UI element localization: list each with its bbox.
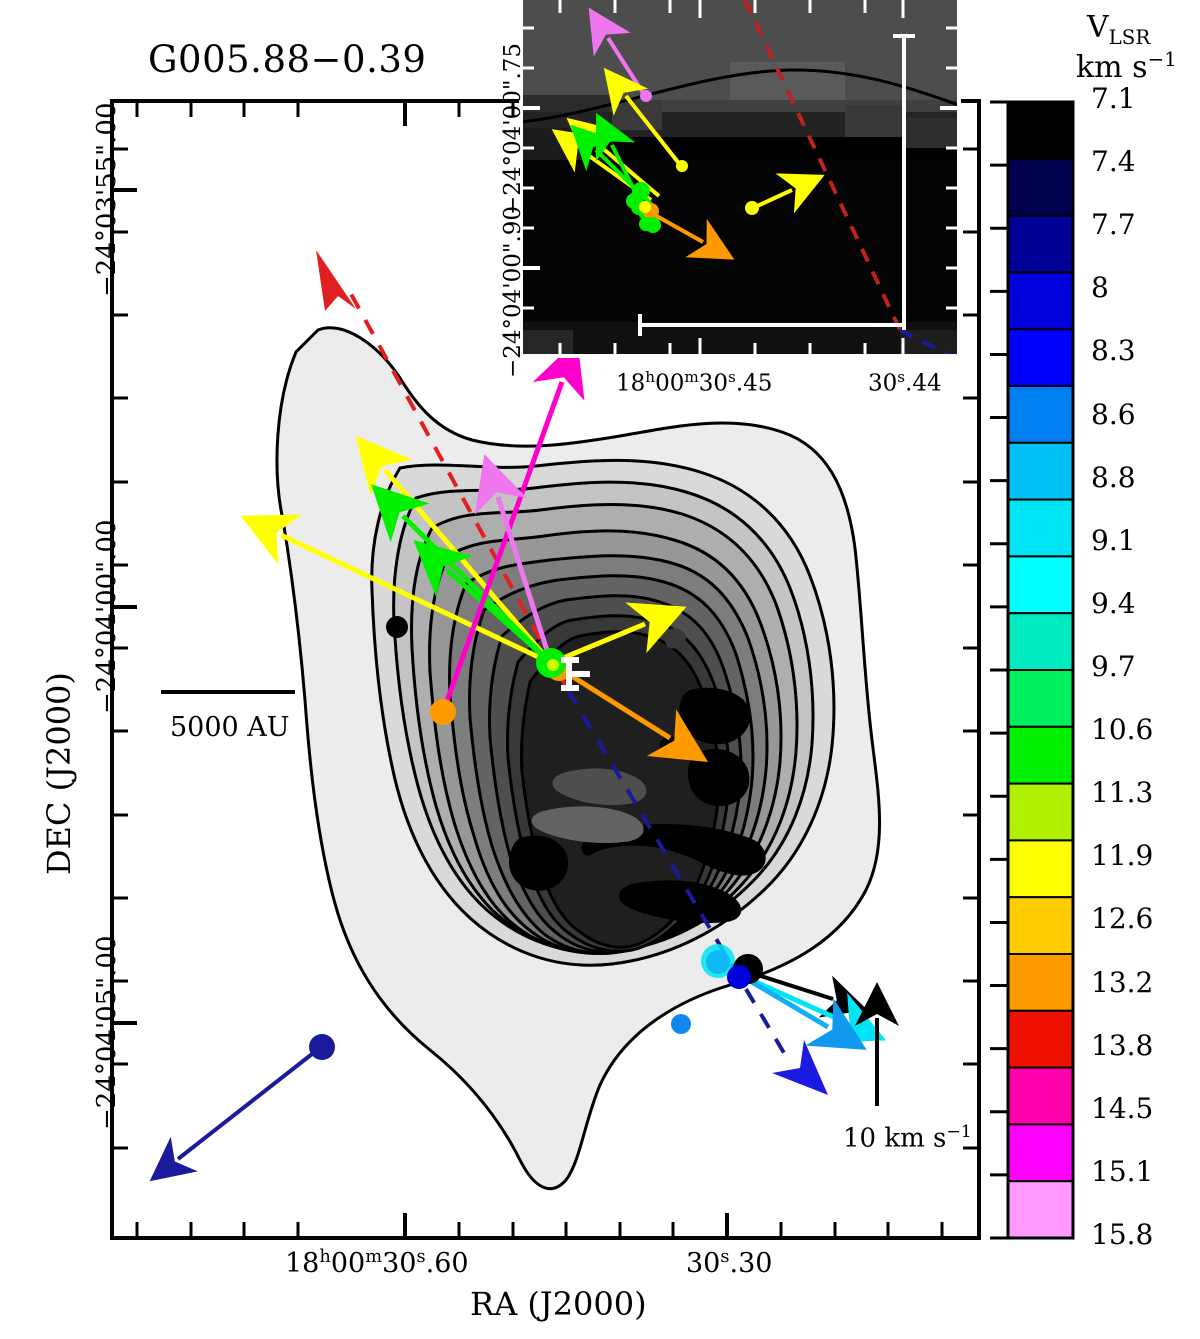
colorbar-band-0 (1008, 102, 1073, 159)
colorbar-band-4 (1008, 329, 1073, 386)
colorbar-title-units: km s−1 (1076, 48, 1177, 85)
colorbar-band-14 (1008, 897, 1073, 954)
colorbar-tick-label-16: 14.5 (1091, 1092, 1153, 1125)
colorbar-tick-label-10: 10.6 (1091, 713, 1153, 746)
colorbar-tick-label-3: 8 (1091, 271, 1109, 304)
colorbar-band-7 (1008, 500, 1073, 557)
colorbar-band-5 (1008, 386, 1073, 443)
maser-dot-cyan-bright (706, 950, 730, 974)
inset-x-tick-1: 30s.44 (868, 368, 942, 397)
colorbar-tick-label-15: 13.8 (1091, 1029, 1153, 1062)
inset-x-tick-0: 18h00m30s.45 (616, 368, 772, 397)
inset-y-tick-0: −24°04'00".75 (500, 43, 526, 215)
colorbar-band-10 (1008, 670, 1073, 727)
colorbar-tick-label-17: 15.1 (1091, 1155, 1153, 1188)
y-tick-label-0: −24°03'55".00 (92, 103, 122, 298)
colorbar-tick-label-8: 9.4 (1091, 587, 1136, 620)
colorbar-band-13 (1008, 840, 1073, 897)
colorbar-tick-label-9: 9.7 (1091, 650, 1136, 683)
colorbar-band-16 (1008, 1011, 1073, 1068)
ra-axis-label: RA (J2000) (470, 1285, 647, 1323)
colorbar-tick-label-7: 9.1 (1091, 524, 1136, 557)
colorbar-tick-label-2: 7.7 (1091, 208, 1136, 241)
colorbar-tick-label-13: 12.6 (1091, 902, 1153, 935)
colorbar-tick-label-11: 11.3 (1091, 776, 1153, 809)
y-tick-label-2: −24°04'05".00 (92, 936, 122, 1131)
page-title: G005.88−0.39 (148, 38, 426, 81)
velocity-scale-label: 10 km s−1 (843, 1122, 972, 1154)
colorbar-tick-label-18: 15.8 (1091, 1218, 1153, 1251)
y-tick-label-1: −24°04'00".00 (92, 520, 122, 715)
dec-axis-label-wrap: DEC (J2000) (40, 672, 78, 875)
colorbar-band-19 (1008, 1181, 1073, 1238)
colorbar-band-15 (1008, 954, 1073, 1011)
maser-dot-orange-knot (430, 699, 456, 725)
colorbar-band-12 (1008, 784, 1073, 841)
colorbar-tick-label-6: 8.8 (1091, 461, 1136, 494)
maser-dot-navy (309, 1034, 335, 1060)
dec-axis-label: DEC (J2000) (40, 672, 78, 875)
colorbar-band-18 (1008, 1124, 1073, 1181)
colorbar (1008, 102, 1073, 1238)
maser-dot-blue-south (727, 965, 751, 989)
colorbar-tick-label-12: 11.9 (1091, 839, 1153, 872)
colorbar-tick-label-0: 7.1 (1091, 82, 1136, 115)
maser-dot-central-yellow-core (547, 659, 559, 671)
colorbar-tick-label-5: 8.6 (1091, 398, 1136, 431)
colorbar-band-8 (1008, 556, 1073, 613)
colorbar-band-6 (1008, 443, 1073, 500)
colorbar-band-11 (1008, 727, 1073, 784)
colorbar-title-vlsr: VLSR (1087, 10, 1150, 49)
x-tick-label-0: 18h00m30s.60 (285, 1246, 469, 1279)
figure-panel: G005.88−0.39 DEC (J2000) RA (J2000) −24°… (0, 0, 1200, 1339)
maser-dot-isolated-blue (671, 1014, 691, 1034)
maser-dot-black-west (386, 616, 408, 638)
colorbar-band-2 (1008, 216, 1073, 273)
inset-panel (521, 0, 959, 358)
colorbar-band-17 (1008, 1068, 1073, 1125)
colorbar-band-3 (1008, 272, 1073, 329)
inset-image-pixels (521, 0, 959, 358)
colorbar-tick-label-4: 8.3 (1091, 334, 1136, 367)
colorbar-band-9 (1008, 613, 1073, 670)
x-tick-label-1: 30s.30 (686, 1246, 772, 1279)
colorbar-tick-label-14: 13.2 (1091, 966, 1153, 999)
colorbar-tick-label-1: 7.4 (1091, 145, 1136, 178)
inset-y-tick-1: −24°04'00".90 (500, 206, 526, 378)
astronomy-figure-canvas (0, 0, 1200, 1339)
scale-bar-label: 5000 AU (170, 712, 290, 743)
colorbar-band-1 (1008, 159, 1073, 216)
